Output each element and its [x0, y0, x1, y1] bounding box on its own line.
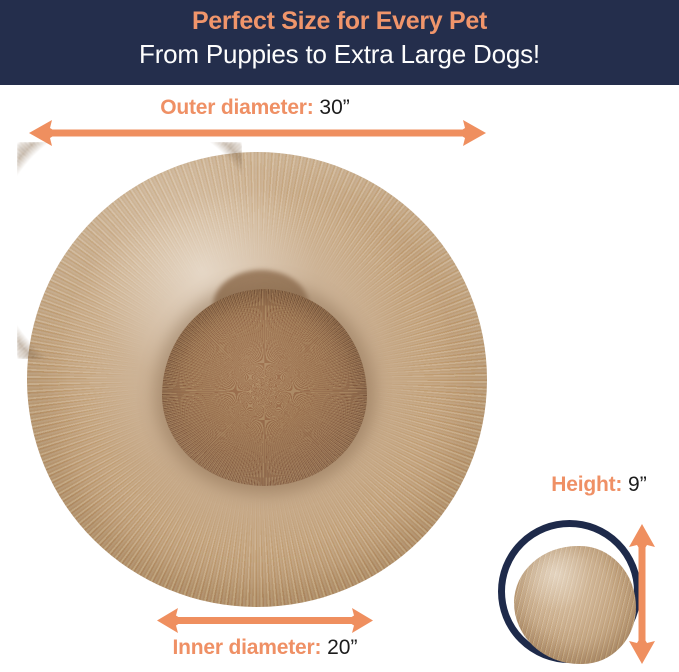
inner-diameter-label: Inner diameter: 20” [0, 636, 530, 660]
pet-bed-top-view [27, 152, 487, 607]
height-label: Height: 9” [519, 473, 679, 497]
inner-diameter-arrow [155, 606, 375, 636]
page-subtitle: From Puppies to Extra Large Dogs! [0, 38, 679, 70]
inset-bed-body [514, 546, 636, 664]
bed-inner-cushion [162, 289, 367, 486]
inset-bed-fur-texture [514, 546, 636, 664]
height-arrow [622, 522, 662, 666]
page-title: Perfect Size for Every Pet [0, 7, 679, 35]
double-headed-vertical-arrow-icon [622, 522, 662, 666]
height-label-text: Height: [551, 473, 622, 496]
inner-cushion-fur-texture [162, 289, 367, 486]
inner-diameter-label-text: Inner diameter: [173, 636, 322, 659]
pet-bed-size-infographic: Perfect Size for Every Pet From Puppies … [0, 0, 679, 667]
header-banner: Perfect Size for Every Pet From Puppies … [0, 0, 679, 85]
double-headed-horizontal-arrow-icon [155, 606, 375, 636]
height-value: 9” [628, 473, 647, 496]
inner-diameter-value: 20” [327, 636, 357, 659]
